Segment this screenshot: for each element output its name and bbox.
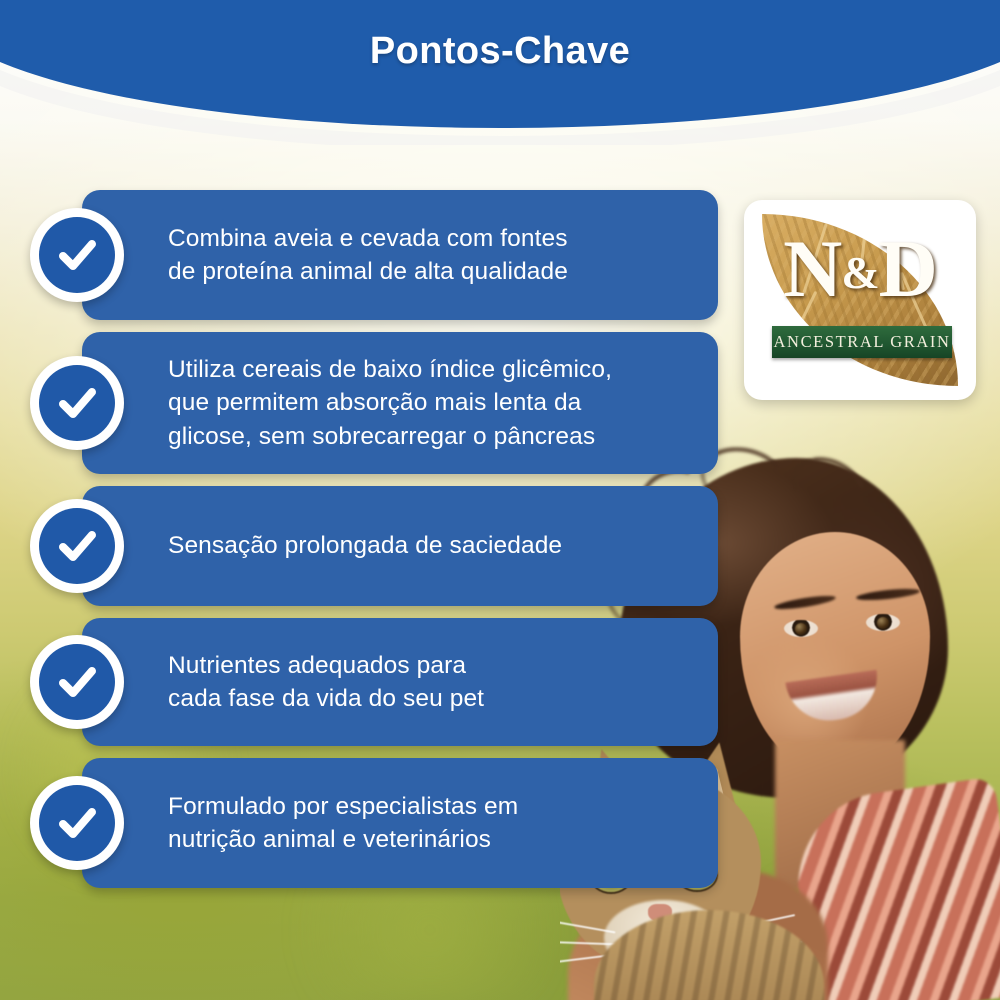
checkmark-glyph bbox=[54, 232, 100, 278]
bullet-text: Utiliza cereais de baixo índice glicêmic… bbox=[168, 353, 612, 453]
bullet-pill: Utiliza cereais de baixo índice glicêmic… bbox=[82, 332, 718, 474]
list-item: Utiliza cereais de baixo índice glicêmic… bbox=[0, 332, 760, 474]
check-icon bbox=[30, 635, 124, 729]
check-icon bbox=[30, 499, 124, 593]
checkmark-glyph bbox=[54, 523, 100, 569]
bullet-pill: Sensação prolongada de saciedade bbox=[82, 486, 718, 606]
check-icon bbox=[30, 356, 124, 450]
woman-eye-right bbox=[866, 614, 900, 631]
woman-eye-left bbox=[784, 620, 818, 637]
nd-ancestral-grain-logo: N&D ANCESTRAL GRAIN bbox=[744, 200, 976, 400]
logo-letter-d: D bbox=[879, 223, 937, 314]
bullet-text: Formulado por especialistas em nutrição … bbox=[168, 790, 518, 857]
page-title: Pontos-Chave bbox=[0, 30, 1000, 73]
check-icon bbox=[30, 208, 124, 302]
list-item: Sensação prolongada de saciedade bbox=[0, 486, 760, 606]
checkmark-glyph bbox=[54, 659, 100, 705]
key-points-list: Combina aveia e cevada com fontes de pro… bbox=[0, 190, 760, 900]
bullet-text: Sensação prolongada de saciedade bbox=[168, 529, 562, 562]
check-icon bbox=[30, 776, 124, 870]
logo-tagline-text: ANCESTRAL GRAIN bbox=[774, 332, 951, 352]
bullet-pill: Nutrientes adequados para cada fase da v… bbox=[82, 618, 718, 746]
checkmark-glyph bbox=[54, 380, 100, 426]
bullet-pill: Formulado por especialistas em nutrição … bbox=[82, 758, 718, 888]
logo-letter-n: N bbox=[783, 223, 841, 314]
list-item: Combina aveia e cevada com fontes de pro… bbox=[0, 190, 760, 320]
logo-ampersand: & bbox=[841, 247, 878, 298]
bullet-pill: Combina aveia e cevada com fontes de pro… bbox=[82, 190, 718, 320]
woman-face bbox=[740, 532, 930, 770]
list-item: Formulado por especialistas em nutrição … bbox=[0, 758, 760, 888]
checkmark-glyph bbox=[54, 800, 100, 846]
check-icon-circle bbox=[39, 644, 115, 720]
bullet-text: Nutrientes adequados para cada fase da v… bbox=[168, 649, 484, 716]
check-icon-circle bbox=[39, 785, 115, 861]
check-icon-circle bbox=[39, 508, 115, 584]
check-icon-circle bbox=[39, 217, 115, 293]
logo-brand-text: N&D bbox=[762, 230, 958, 308]
logo-artwork: N&D ANCESTRAL GRAIN bbox=[762, 214, 958, 386]
list-item: Nutrientes adequados para cada fase da v… bbox=[0, 618, 760, 746]
bullet-text: Combina aveia e cevada com fontes de pro… bbox=[168, 222, 568, 289]
logo-tagline-ribbon: ANCESTRAL GRAIN bbox=[772, 326, 952, 358]
check-icon-circle bbox=[39, 365, 115, 441]
